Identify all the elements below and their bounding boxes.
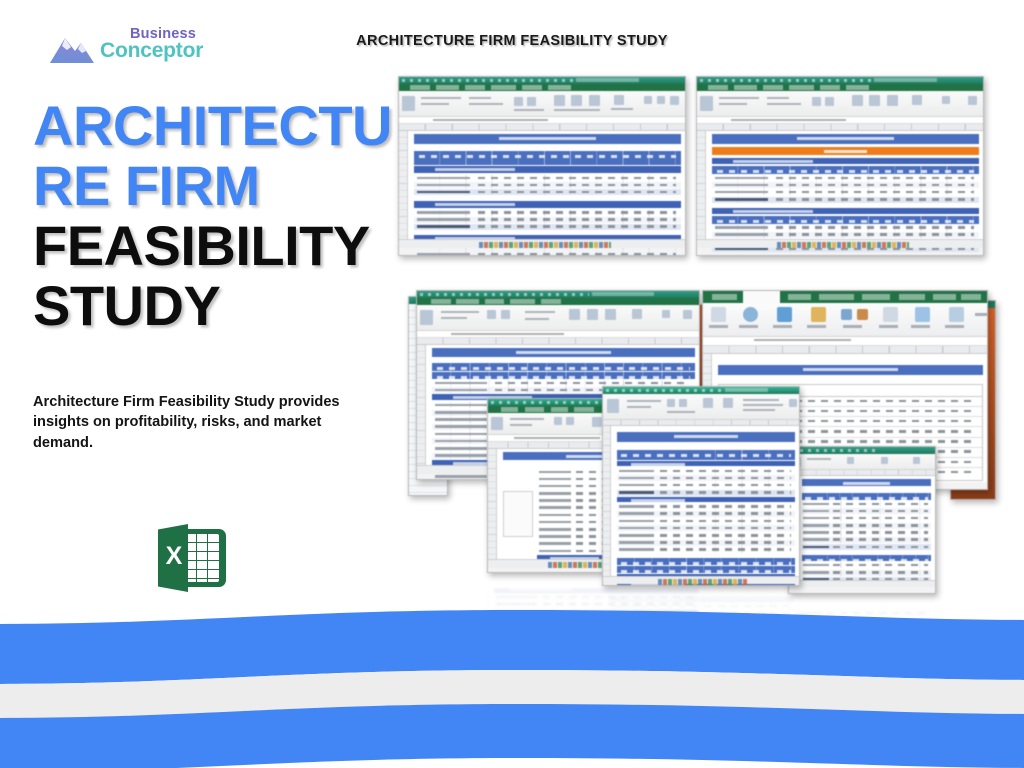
sheet-title-banner [617, 432, 795, 442]
year-column-headers [617, 450, 795, 460]
screenshot-collage [390, 68, 1010, 613]
window-title-bar [789, 447, 935, 454]
ribbon-toolbar[interactable] [417, 305, 699, 331]
column-headers [697, 124, 983, 131]
ribbon-tabs[interactable] [697, 84, 983, 91]
window-title-bar [697, 77, 983, 84]
window-title-bar [603, 387, 799, 394]
worksheet-grid[interactable] [603, 426, 799, 576]
excel-icon-grid [186, 534, 219, 582]
status-bar [789, 580, 935, 587]
page-title: ARCHITECTU RE FIRM FEASIBILITY STUDY [33, 96, 385, 336]
formula-bar[interactable] [399, 117, 685, 124]
title-line-2: RE FIRM [33, 156, 385, 216]
title-line-1: ARCHITECTU [33, 96, 385, 156]
ribbon-tabs[interactable] [417, 298, 699, 305]
window-title-bar [417, 291, 699, 298]
excel-file-icon: X [158, 524, 226, 592]
screenshot-revenue-calculation[interactable] [398, 76, 686, 256]
screenshot-income-statement[interactable] [602, 386, 800, 586]
formula-bar[interactable] [697, 117, 983, 124]
status-bar [399, 239, 685, 248]
column-headers [417, 338, 699, 345]
bottom-wave-ribbon [0, 608, 1024, 768]
sheet-title-banner [718, 365, 983, 375]
ribbon-toolbar[interactable] [603, 394, 799, 420]
excel-icon-letter: X [162, 544, 186, 569]
column-headers [703, 346, 987, 354]
year-banner-1 [712, 147, 979, 155]
sheet-title-banner [432, 348, 695, 357]
ribbon-toolbar[interactable] [399, 91, 685, 117]
column-headers [399, 124, 685, 131]
hero-text-column: ARCHITECTU RE FIRM FEASIBILITY STUDY Arc… [33, 96, 385, 454]
worksheet-grid[interactable] [697, 131, 983, 239]
ribbon-toolbar-insertion[interactable] [703, 303, 987, 337]
formula-bar[interactable] [417, 331, 699, 338]
ribbon-toolbar[interactable] [789, 454, 935, 470]
sheet-title-banner [712, 134, 979, 144]
title-line-3: FEASIBILITY [33, 216, 385, 276]
worksheet-grid[interactable] [789, 476, 935, 580]
ribbon-tabs[interactable] [703, 291, 987, 303]
window-title-bar [399, 77, 685, 84]
screenshot-budget-forecast[interactable] [696, 76, 984, 256]
status-bar [603, 576, 799, 584]
ribbon-toolbar[interactable] [697, 91, 983, 117]
worksheet-grid[interactable] [399, 131, 685, 239]
poster-canvas: Business Conceptor ARCHITECTURE FIRM FEA… [0, 0, 1024, 768]
screenshot-balance-sheet[interactable] [788, 446, 936, 594]
page-subtitle: Architecture Firm Feasibility Study prov… [33, 392, 355, 454]
sheet-title-banner [802, 479, 931, 486]
sheet-title-banner [414, 134, 681, 144]
ribbon-tabs[interactable] [399, 84, 685, 91]
page-header-title: ARCHITECTURE FIRM FEASIBILITY STUDY [0, 33, 1024, 49]
title-line-4: STUDY [33, 276, 385, 336]
status-bar [697, 239, 983, 248]
formula-bar[interactable] [703, 337, 987, 346]
